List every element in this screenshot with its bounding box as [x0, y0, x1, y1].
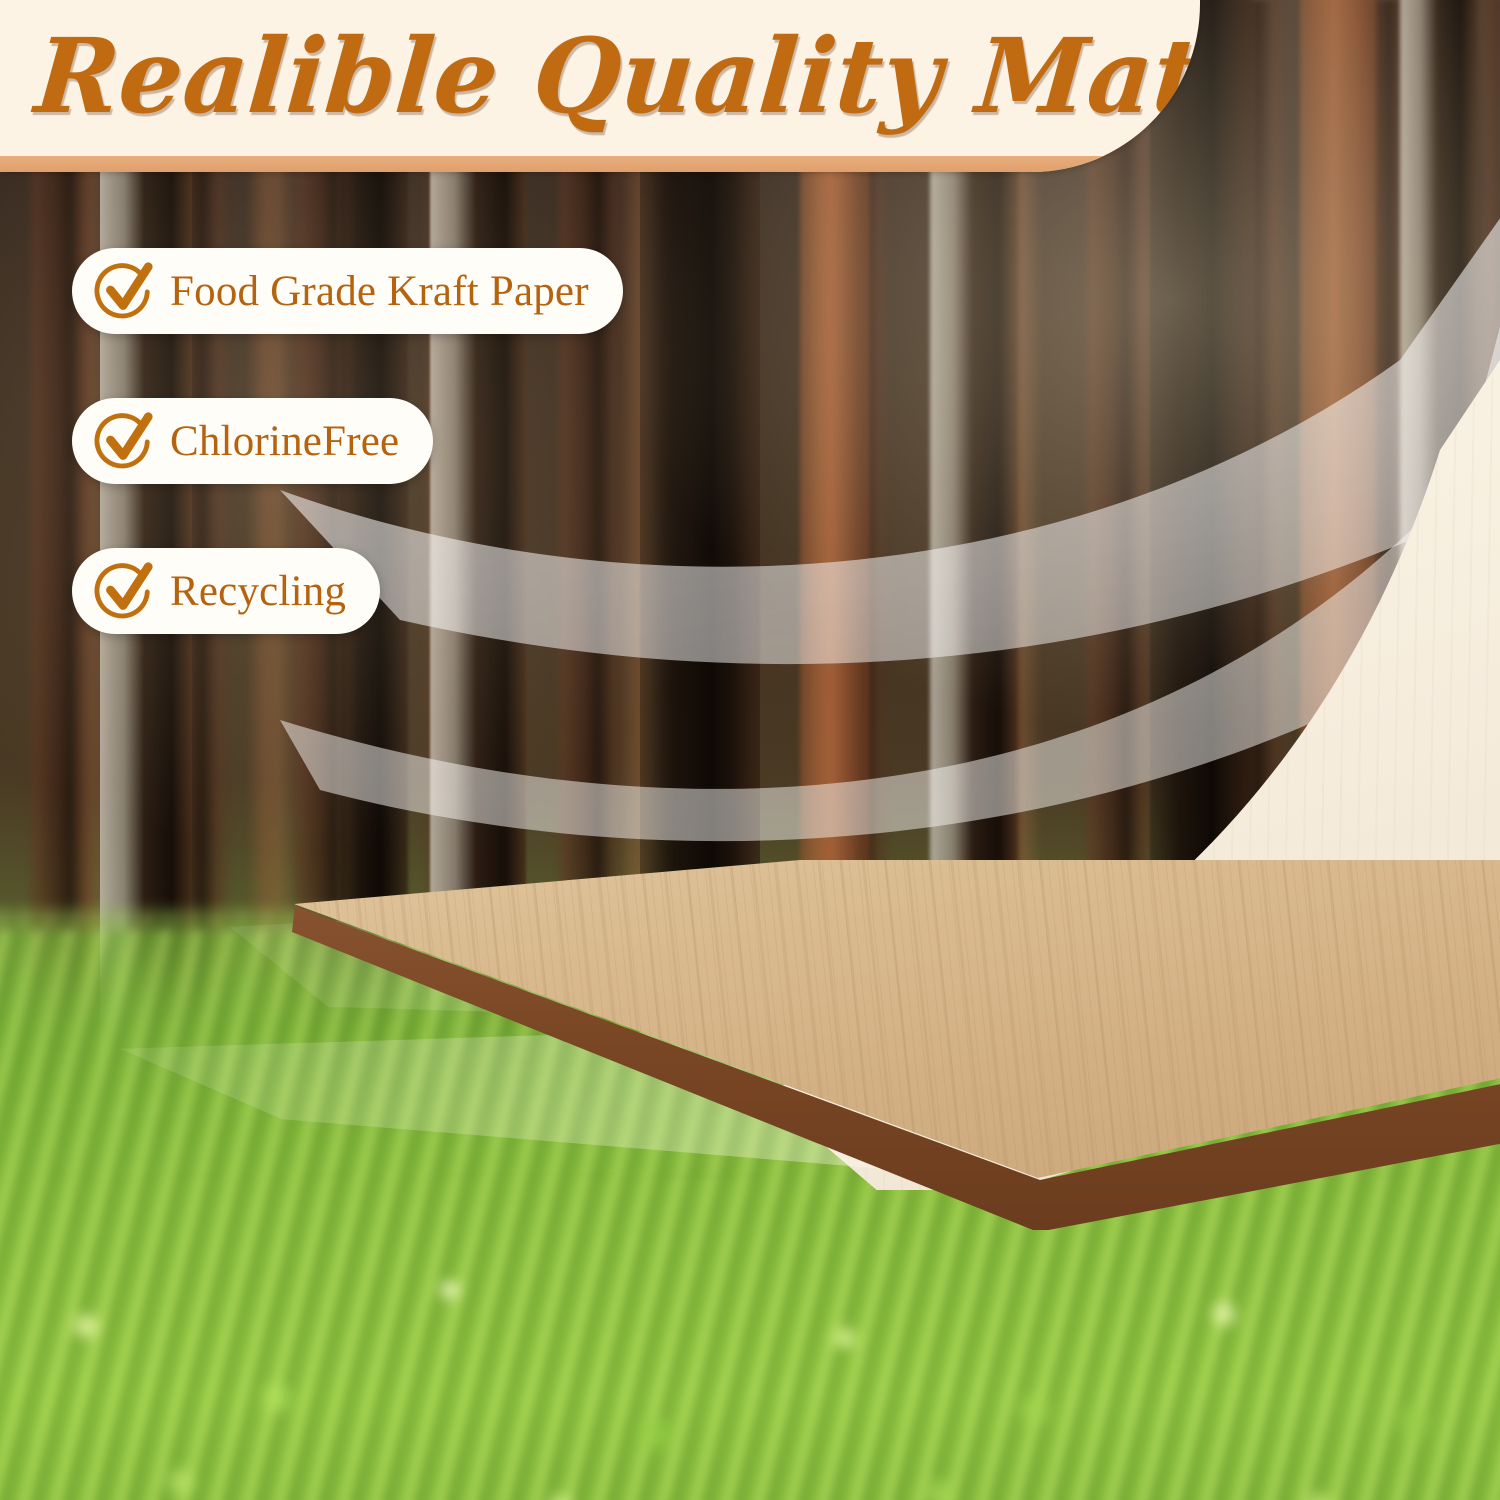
feature-pill-recycling[interactable]: Recycling	[72, 548, 380, 634]
feature-pill-chlorine-free[interactable]: ChlorineFree	[72, 398, 433, 484]
circled-check-icon	[94, 410, 156, 472]
page-title: Realible Quality Material	[31, 18, 1108, 136]
header-banner: Realible Quality Material	[0, 0, 1200, 172]
banner-accent-stripe	[0, 156, 1200, 172]
feature-pill-food-grade-kraft-paper[interactable]: Food Grade Kraft Paper	[72, 248, 623, 334]
product-infographic: Realible Quality Material Food Grade Kra…	[0, 0, 1500, 1500]
forest-background-photo	[0, 0, 1500, 1500]
feature-pill-label: Food Grade Kraft Paper	[170, 267, 589, 316]
feature-pill-label: Recycling	[170, 567, 346, 616]
circled-check-icon	[94, 560, 156, 622]
feature-pill-label: ChlorineFree	[170, 417, 399, 466]
circled-check-icon	[94, 260, 156, 322]
